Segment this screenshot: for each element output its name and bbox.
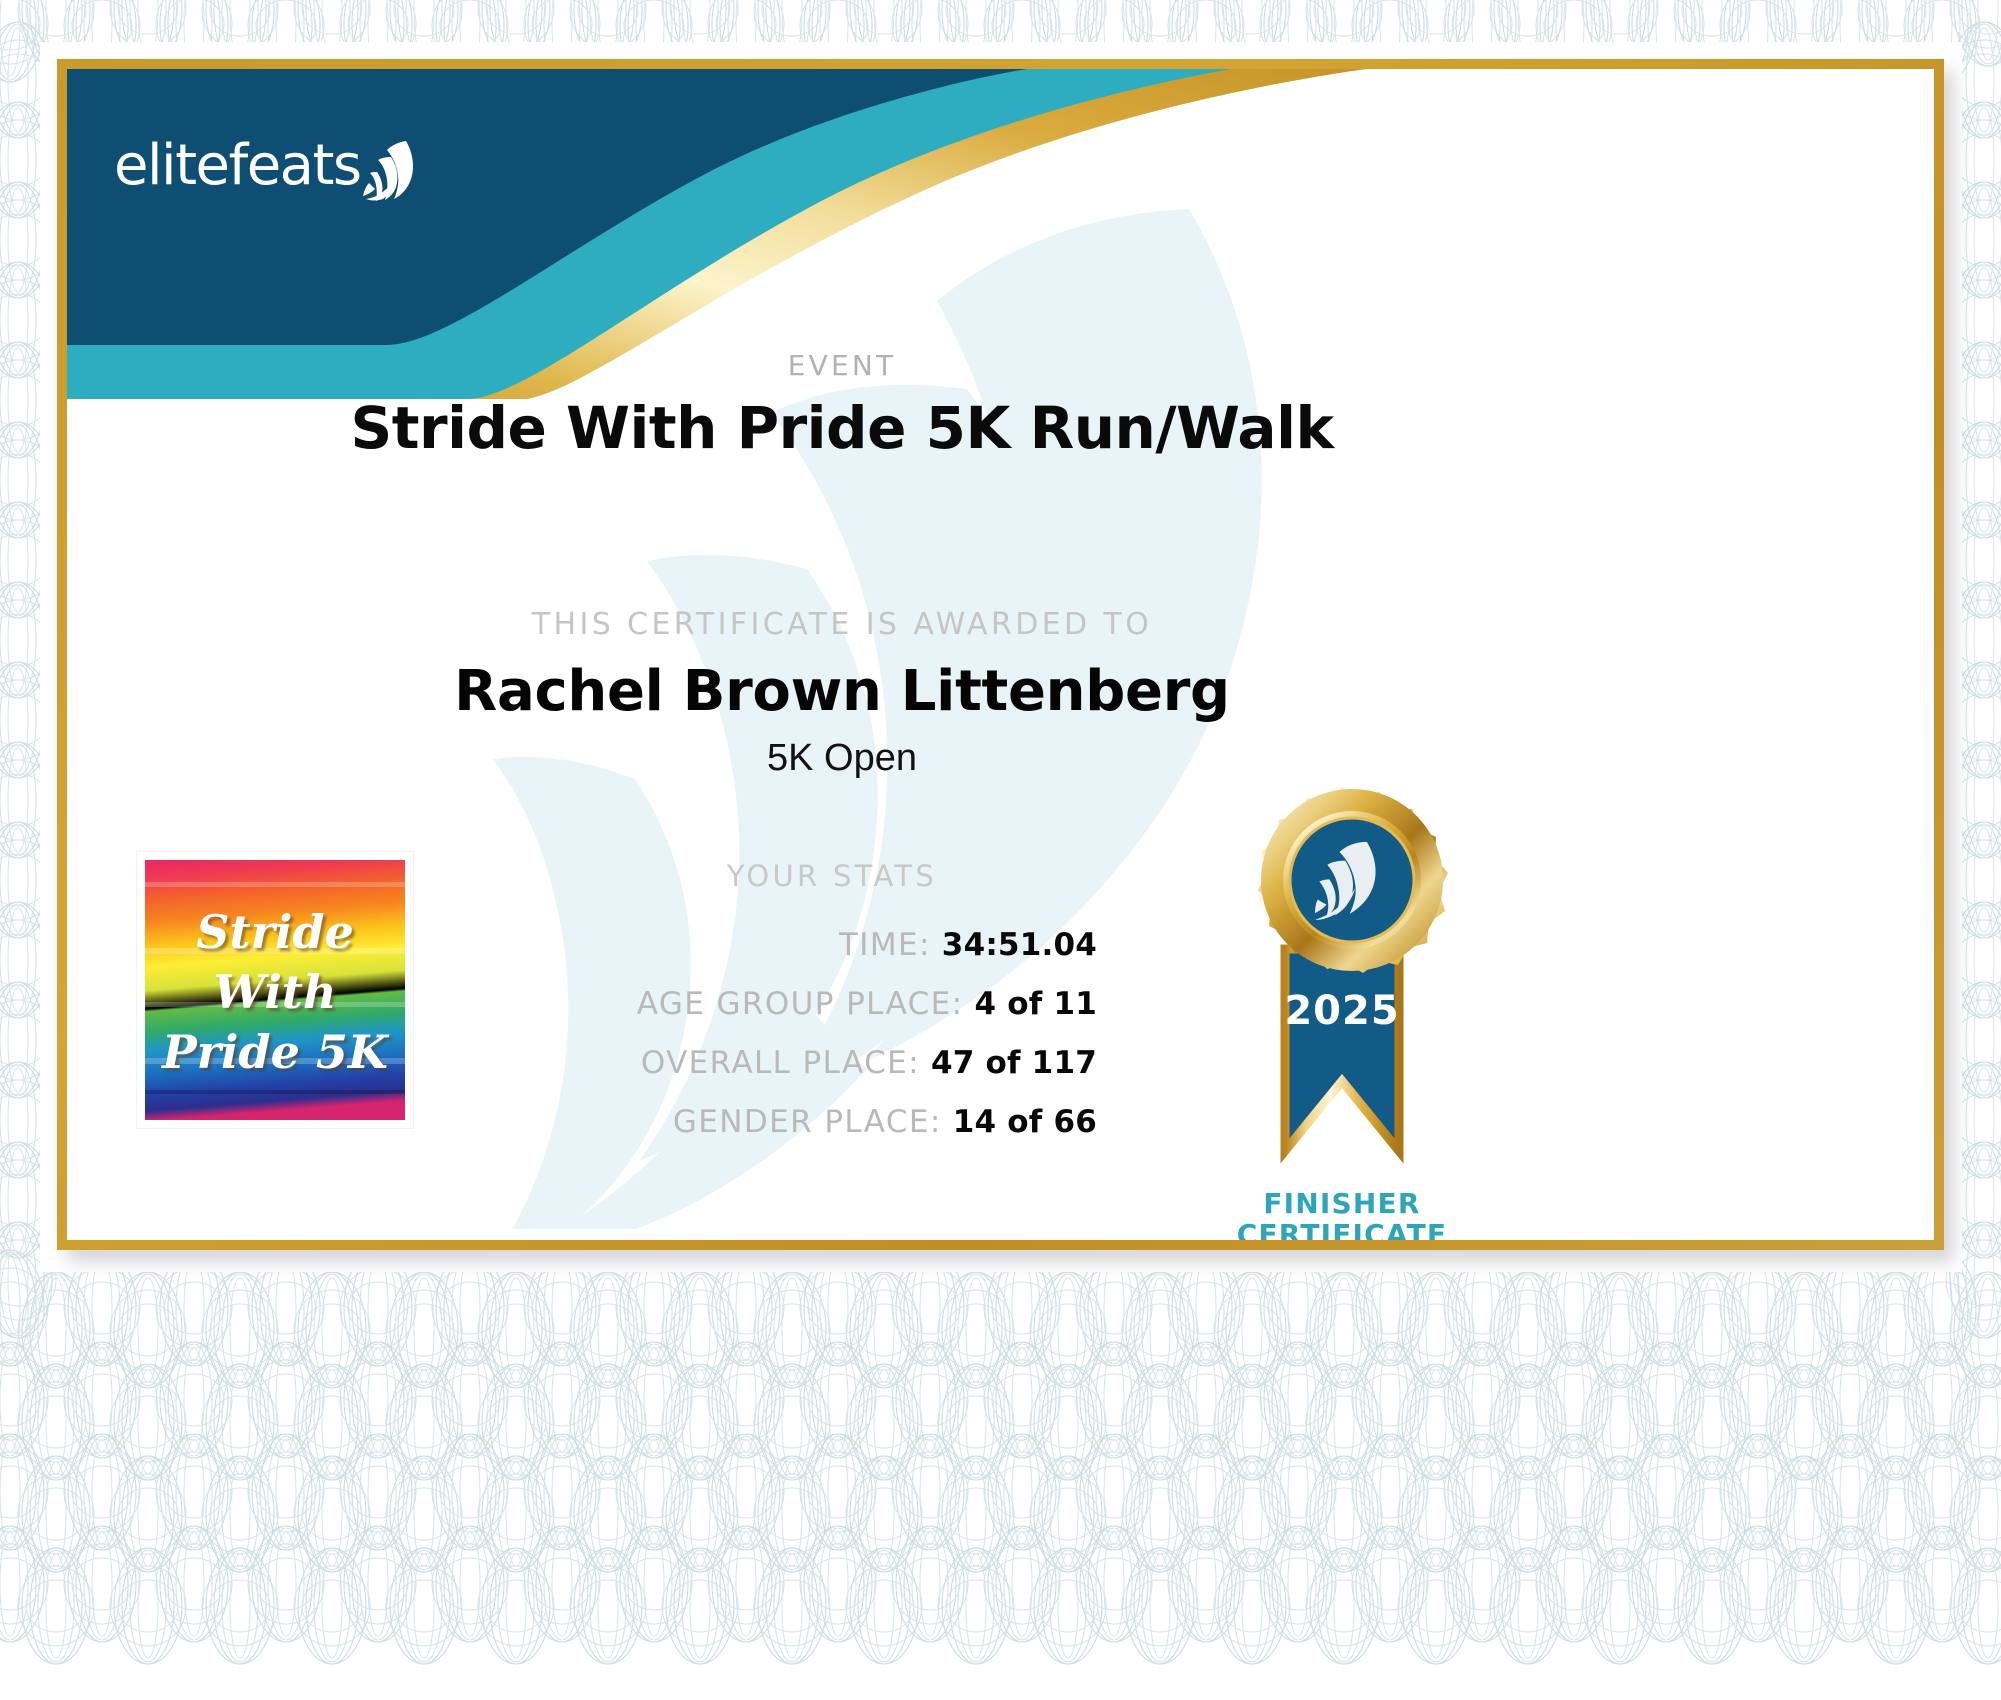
stat-value: 14 of 66 (953, 1104, 1097, 1140)
certificate-gold-frame: elitefeats EVENT Stride With Pride 5K Ru… (57, 59, 1944, 1250)
event-title: Stride With Pride 5K Run/Walk (67, 394, 1617, 462)
medal-ribbon: 2025 (1284, 949, 1399, 1151)
event-logo-image: Stride With Pride 5K (137, 852, 413, 1128)
stat-key: AGE GROUP PLACE: (637, 986, 964, 1022)
medal-year: 2025 (1284, 988, 1399, 1034)
certificate-page: elitefeats EVENT Stride With Pride 5K Ru… (0, 0, 2001, 1700)
event-label: EVENT (67, 349, 1617, 382)
stat-key: OVERALL PLACE: (641, 1045, 920, 1081)
medal-caption-line-1: FINISHER (1207, 1188, 1477, 1219)
finisher-medal-badge: 2025 (1207, 781, 1477, 1240)
awarded-to-label: THIS CERTIFICATE IS AWARDED TO (67, 607, 1617, 642)
recipient-name: Rachel Brown Littenberg (67, 659, 1617, 724)
division-label: 5K Open (67, 737, 1617, 780)
stat-value: 4 of 11 (975, 986, 1097, 1022)
stat-value: 47 of 117 (931, 1045, 1097, 1081)
event-logo-line-2: With (213, 965, 336, 1019)
event-logo-line-3: Pride 5K (160, 1025, 390, 1079)
stat-key: GENDER PLACE: (673, 1104, 942, 1140)
stat-key: TIME: (839, 927, 931, 963)
certificate-canvas: elitefeats EVENT Stride With Pride 5K Ru… (67, 69, 1934, 1240)
event-logo-line-1: Stride (196, 905, 354, 959)
medal-graphic: 2025 (1207, 781, 1477, 1181)
medal-caption-line-2: CERTIFICATE (1207, 1219, 1477, 1240)
stat-value: 34:51.04 (942, 927, 1097, 963)
medal-caption: FINISHER CERTIFICATE (1207, 1188, 1477, 1240)
